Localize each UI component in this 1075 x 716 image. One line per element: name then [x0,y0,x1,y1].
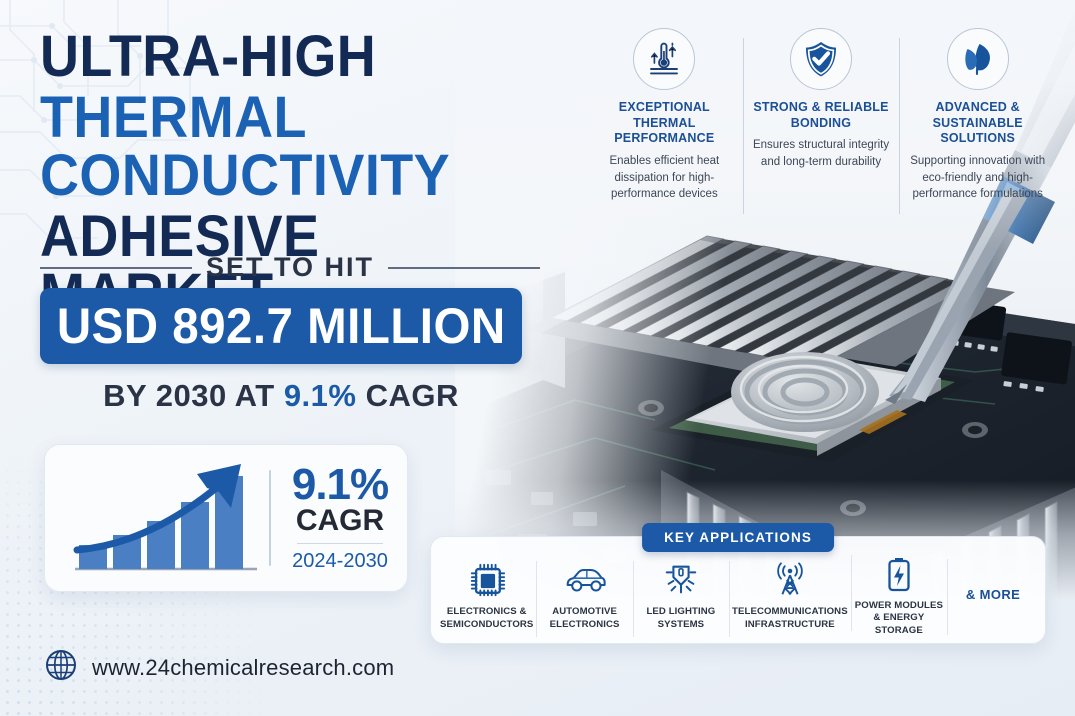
application-label-line1: TELECOMMUNICATIONS [732,606,848,617]
cagr-label: CAGR [283,505,397,537]
application-automotive-electronics[interactable]: AUTOMOTIVE ELECTRONICS [536,557,632,631]
cagr-stats: 9.1% CAGR 2024-2030 [283,463,407,574]
application-label: ELECTRONICS & SEMICONDUCTORS [440,606,533,631]
market-value-banner: USD 892.7 MILLION [40,288,522,364]
feature-title-line2: THERMAL PERFORMANCE [614,116,714,146]
cagr-card-divider [269,470,271,566]
set-to-hit-label: SET TO HIT [206,252,374,283]
feature-strong-reliable-bonding: STRONG & RELIABLE BONDING Ensures struct… [743,24,900,239]
feature-title: STRONG & RELIABLE BONDING [751,100,892,131]
application-label: TELECOMMUNICATIONS INFRASTRUCTURE [732,606,848,631]
cagr-card: 9.1% CAGR 2024-2030 [44,444,408,592]
application-label-line1: POWER MODULES [855,600,943,611]
feature-title: EXCEPTIONAL THERMAL PERFORMANCE [594,100,735,147]
set-to-hit-row: SET TO HIT [40,252,540,283]
divider-right [388,267,540,269]
feature-highlights: EXCEPTIONAL THERMAL PERFORMANCE Enables … [586,24,1056,239]
cagr-hairline [297,543,383,544]
cagr-bar-chart [61,458,265,578]
leaf-icon [947,28,1009,90]
application-led-lighting-systems[interactable]: LED LIGHTING SYSTEMS [633,557,729,631]
application-label-line2: & ENERGY STORAGE [873,612,924,635]
application-label-line2: SEMICONDUCTORS [440,619,533,630]
headline-line-2: THERMAL CONDUCTIVITY [40,89,524,204]
website-url[interactable]: www.24chemicalresearch.com [92,655,394,681]
application-label-line2: SYSTEMS [658,619,705,630]
feature-description: Supporting innovation with eco-friendly … [907,153,1048,203]
feature-description: Enables efficient heat dissipation for h… [594,153,735,203]
forecast-line: BY 2030 AT 9.1% CAGR [40,378,522,414]
feature-title: ADVANCED & SUSTAINABLE SOLUTIONS [907,100,1048,147]
application-label-line2: INFRASTRUCTURE [745,619,835,630]
feature-title-line1: EXCEPTIONAL [619,100,710,114]
application-electronics-semiconductors[interactable]: ELECTRONICS & SEMICONDUCTORS [437,557,536,631]
application-label: LED LIGHTING SYSTEMS [646,606,715,631]
headline-line-1: ULTRA-HIGH [40,28,524,85]
car-icon [564,557,606,603]
feature-advanced-sustainable-solutions: ADVANCED & SUSTAINABLE SOLUTIONS Support… [899,24,1056,239]
market-value-text: USD 892.7 MILLION [57,297,506,355]
microchip-icon [468,557,506,603]
key-applications-panel: KEY APPLICATIONS ELECTRONICS & SEMICONDU… [430,536,1046,644]
cagr-years: 2024-2030 [283,550,397,573]
led-bulb-icon [662,557,700,603]
cagr-percent: 9.1% [283,463,397,507]
infographic-canvas: ULTRA-HIGH THERMAL CONDUCTIVITY ADHESIVE… [0,0,1075,716]
divider-left [40,267,192,269]
application-label: POWER MODULES & ENERGY STORAGE [854,600,944,637]
forecast-prefix: BY 2030 AT [103,378,284,413]
feature-title-line2: BONDING [791,116,851,130]
application-more-label[interactable]: & MORE [947,587,1039,602]
battery-icon [883,551,915,597]
application-label-line1: ELECTRONICS & [447,606,527,617]
shield-check-icon [790,28,852,90]
application-label-line1: LED LIGHTING [646,606,715,617]
application-label-line2: ELECTRONICS [550,619,620,630]
antenna-icon [771,557,809,603]
application-label-line1: AUTOMOTIVE [552,606,617,617]
feature-title-line1: STRONG & RELIABLE [753,100,888,114]
forecast-cagr: 9.1% [284,378,357,413]
globe-icon [44,648,78,687]
footer: www.24chemicalresearch.com [44,648,394,687]
feature-title-line1: ADVANCED & SUSTAINABLE [933,100,1023,130]
feature-exceptional-thermal-performance: EXCEPTIONAL THERMAL PERFORMANCE Enables … [586,24,743,239]
feature-description: Ensures structural integrity and long-te… [751,137,892,170]
application-power-modules-energy-storage[interactable]: POWER MODULES & ENERGY STORAGE [851,551,947,637]
feature-title-line2: SOLUTIONS [940,131,1015,145]
application-label: AUTOMOTIVE ELECTRONICS [550,606,620,631]
application-telecommunications-infrastructure[interactable]: TELECOMMUNICATIONS INFRASTRUCTURE [729,557,851,631]
key-applications-badge: KEY APPLICATIONS [642,523,834,552]
forecast-suffix: CAGR [356,378,458,413]
thermometer-icon [633,28,695,90]
bar-chart-svg [61,458,265,578]
